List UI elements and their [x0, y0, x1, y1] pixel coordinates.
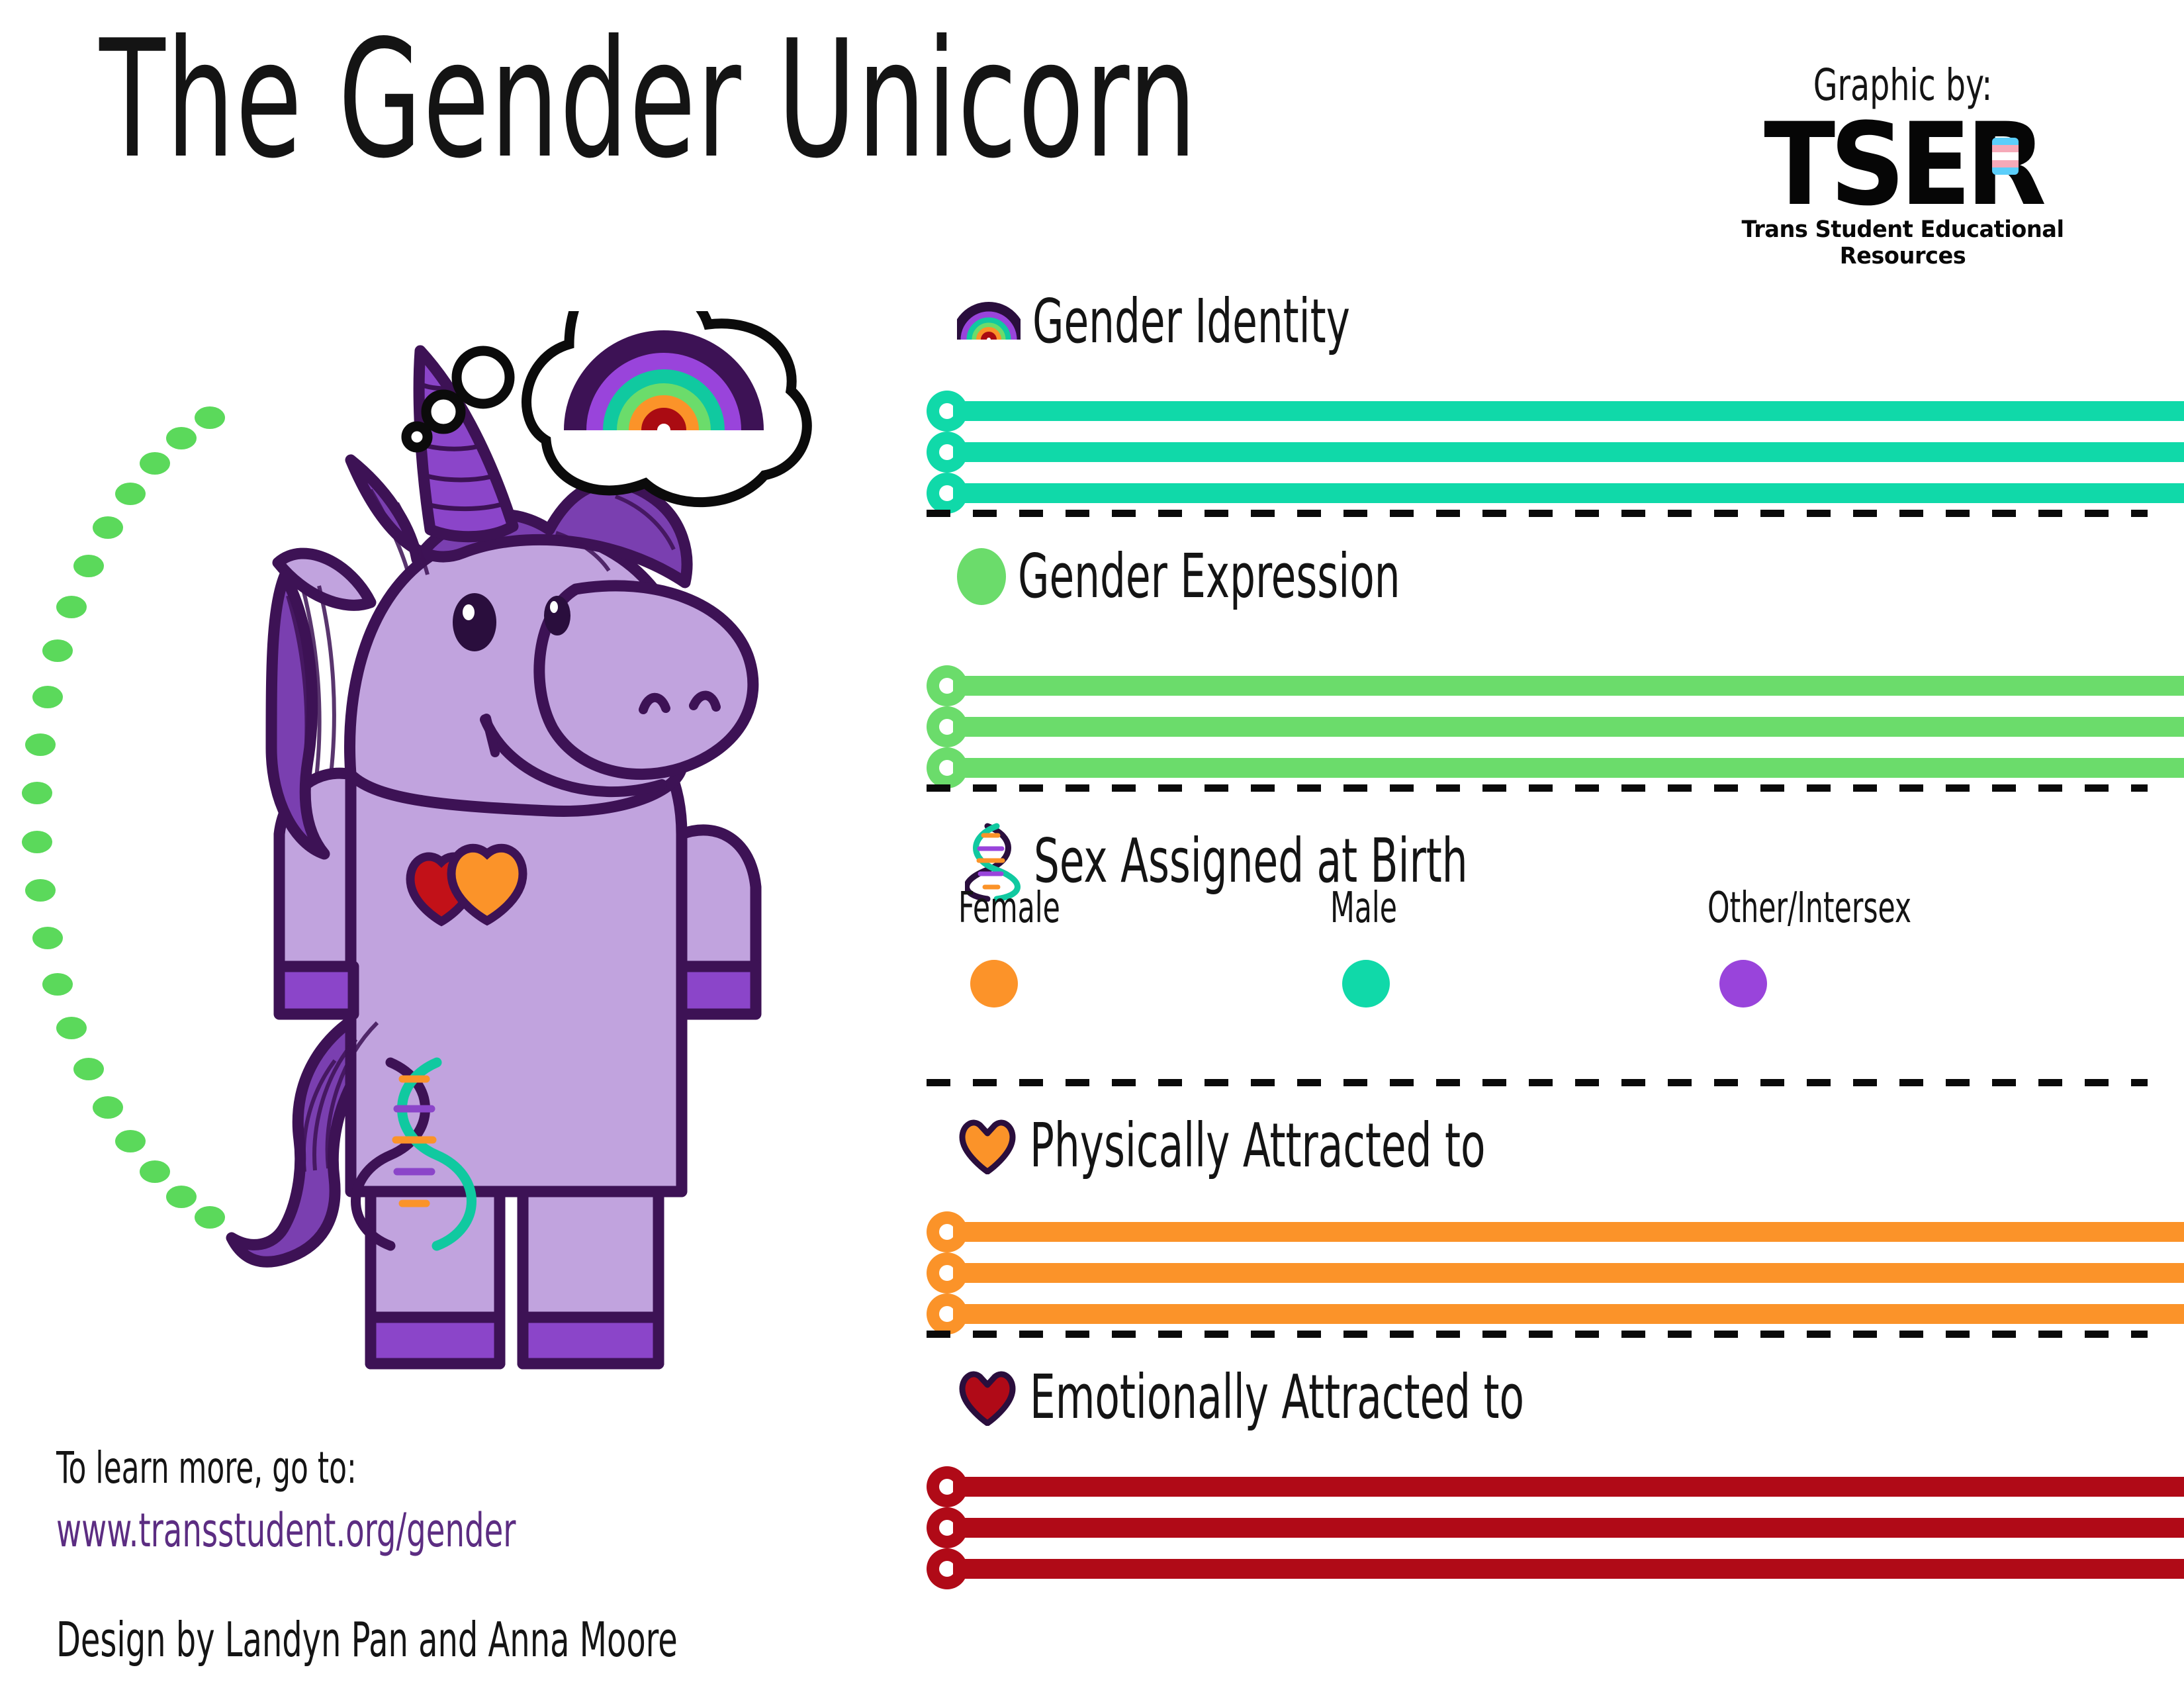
tser-expansion: Trans Student Educational Resources: [1725, 216, 2081, 269]
green-dot: [32, 927, 63, 949]
spectrum-row[interactable]: Other Gender(s): [927, 473, 2184, 514]
section-header-gender-expression: Gender Expression: [957, 546, 1534, 607]
spectrum-row[interactable]: Female/Woman/Girl: [927, 391, 2184, 432]
section-title: Gender Identity: [1032, 291, 1350, 352]
green-dot-icon: [957, 548, 1006, 605]
spectrum-bar: [953, 717, 2184, 737]
tser-logo: Graphic by: TSER Trans Student Education…: [1717, 64, 2088, 269]
section-title: Emotionally Attracted to: [1030, 1367, 1524, 1428]
saab-label-male: Male: [1330, 887, 1397, 929]
section-title: Sex Assigned at Birth: [1034, 831, 1468, 892]
spectrum-row[interactable]: Women: [927, 1211, 2184, 1252]
saab-label-female: Female: [958, 887, 1060, 929]
section-header-sex-assigned-at-birth: Sex Assigned at Birth: [965, 821, 1620, 902]
spectrum-row[interactable]: Other Gender(s): [927, 1548, 2184, 1589]
spectrum-row[interactable]: Women: [927, 1466, 2184, 1507]
footer: To learn more, go to: www.transstudent.o…: [56, 1446, 677, 1554]
spectrum-bar: [953, 676, 2184, 696]
section-header-emotionally-attracted-to: Emotionally Attracted to: [957, 1367, 1698, 1428]
green-dot: [73, 555, 104, 577]
spectrum-bar: [953, 758, 2184, 778]
spectrum-bar: [953, 483, 2184, 503]
spectrum-bar: [953, 1518, 2184, 1538]
section-divider: [927, 510, 2148, 517]
gender-unicorn-illustration: [152, 311, 880, 1383]
spectrum-bar: [953, 1222, 2184, 1242]
spectrum-row[interactable]: Masculine: [927, 706, 2184, 747]
spectrum-bar: [953, 1559, 2184, 1579]
green-dot: [115, 483, 146, 505]
green-dot: [42, 973, 73, 996]
section-divider: [927, 784, 2148, 792]
green-dot: [73, 1058, 104, 1080]
green-dot: [32, 686, 63, 708]
saab-dot-female[interactable]: [970, 960, 1018, 1008]
orange-heart-icon: [957, 1117, 1018, 1174]
orange-heart-icon: [957, 1117, 1018, 1174]
learn-more-label: To learn more, go to:: [56, 1446, 516, 1490]
section-divider: [927, 1079, 2148, 1086]
spectrum-bar: [953, 1477, 2184, 1497]
spectrum-row[interactable]: Feminine: [927, 665, 2184, 706]
website-link[interactable]: www.transstudent.org/gender: [56, 1507, 516, 1554]
rainbow-icon: [957, 301, 1021, 342]
trans-flag-icon: [1992, 138, 2019, 175]
section-title: Physically Attracted to: [1030, 1115, 1485, 1176]
saab-dot-other-intersex[interactable]: [1719, 960, 1767, 1008]
spectrum-row[interactable]: Men: [927, 1252, 2184, 1293]
red-heart-icon: [957, 1369, 1018, 1426]
section-divider: [927, 1331, 2148, 1338]
red-heart-icon: [957, 1369, 1018, 1426]
rainbow-icon: [957, 301, 1021, 342]
spectrum-bar: [953, 1263, 2184, 1283]
green-dot: [22, 831, 52, 853]
green-dot: [22, 782, 52, 804]
green-dot: [56, 1017, 87, 1039]
saab-dot-male[interactable]: [1342, 960, 1390, 1008]
spectrum-row[interactable]: Other: [927, 747, 2184, 788]
section-header-physically-attracted-to: Physically Attracted to: [957, 1115, 1645, 1176]
section-title: Gender Expression: [1018, 546, 1400, 607]
spectrum-row[interactable]: Men: [927, 1507, 2184, 1548]
green-dot-icon: [957, 548, 1006, 605]
section-header-gender-identity: Gender Identity: [957, 291, 1462, 352]
spectrum-bar: [953, 442, 2184, 462]
green-dot: [42, 639, 73, 662]
spectrum-row[interactable]: Other Gender(s): [927, 1293, 2184, 1335]
spectrum-row[interactable]: Male/Man/Boy: [927, 432, 2184, 473]
design-credit: Design by Landyn Pan and Anna Moore: [56, 1616, 678, 1664]
green-dot: [56, 596, 87, 618]
green-dot: [93, 516, 123, 539]
green-dot: [25, 879, 56, 902]
saab-label-other-intersex: Other/Intersex: [1707, 887, 1911, 929]
spectrum-bar: [953, 1304, 2184, 1324]
page-title: The Gender Unicorn: [99, 19, 1198, 181]
green-dot: [93, 1096, 123, 1119]
spectrum-bar: [953, 401, 2184, 421]
green-dot: [115, 1130, 146, 1152]
green-dot: [25, 733, 56, 756]
